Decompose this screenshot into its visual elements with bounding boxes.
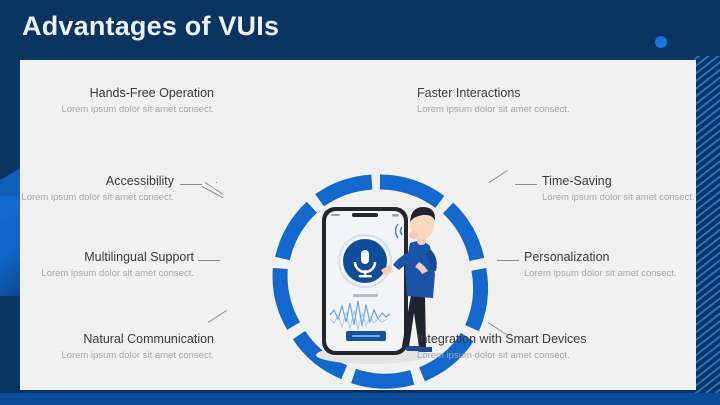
item-accessibility[interactable]: Accessibility Lorem ipsum dolor sit amet… [0, 174, 174, 204]
page-title: Advantages of VUIs [22, 11, 279, 42]
leader-line-accessibility [180, 184, 202, 185]
item-title: Time-Saving [542, 174, 720, 189]
item-desc: Lorem ipsum dolor sit amet consect. [0, 349, 214, 362]
item-natural-communication[interactable]: Natural Communication Lorem ipsum dolor … [0, 332, 214, 362]
item-desc: Lorem ipsum dolor sit amet consect. [417, 103, 687, 116]
item-multilingual-support[interactable]: Multilingual Support Lorem ipsum dolor s… [0, 250, 194, 280]
leader-line-faster [489, 170, 508, 183]
slide-root: Advantages of VUIs [0, 0, 720, 405]
item-faster-interactions[interactable]: Faster Interactions Lorem ipsum dolor si… [417, 86, 687, 116]
item-desc: Lorem ipsum dolor sit amet consect. [542, 191, 720, 204]
item-desc: Lorem ipsum dolor sit amet consect. [0, 103, 214, 116]
item-title: Accessibility [0, 174, 174, 189]
item-time-saving[interactable]: Time-Saving Lorem ipsum dolor sit amet c… [542, 174, 720, 204]
item-personalization[interactable]: Personalization Lorem ipsum dolor sit am… [524, 250, 720, 280]
content-panel: Hands-Free Operation Lorem ipsum dolor s… [20, 60, 696, 390]
right-stripe-pattern [694, 56, 720, 396]
item-desc: Lorem ipsum dolor sit amet consect. [417, 349, 697, 362]
leader-line-personalization [497, 260, 519, 261]
bottom-accent-band [0, 393, 720, 405]
leader-line-multilingual [198, 260, 220, 261]
item-title: Natural Communication [0, 332, 214, 347]
item-integration-smart-devices[interactable]: Integration with Smart Devices Lorem ips… [417, 332, 697, 362]
leader-line-time-saving [515, 184, 537, 185]
item-title: Hands-Free Operation [0, 86, 214, 101]
item-hands-free-operation[interactable]: Hands-Free Operation Lorem ipsum dolor s… [0, 86, 214, 116]
item-desc: Lorem ipsum dolor sit amet consect. [0, 267, 194, 280]
item-title: Integration with Smart Devices [417, 332, 697, 347]
item-title: Multilingual Support [0, 250, 194, 265]
item-desc: Lorem ipsum dolor sit amet consect. [0, 191, 174, 204]
item-desc: Lorem ipsum dolor sit amet consect. [524, 267, 720, 280]
accent-dot-icon [655, 36, 667, 48]
leader-line-1b [216, 182, 217, 183]
item-title: Personalization [524, 250, 720, 265]
leader-line-natural [208, 310, 227, 323]
item-title: Faster Interactions [417, 86, 687, 101]
